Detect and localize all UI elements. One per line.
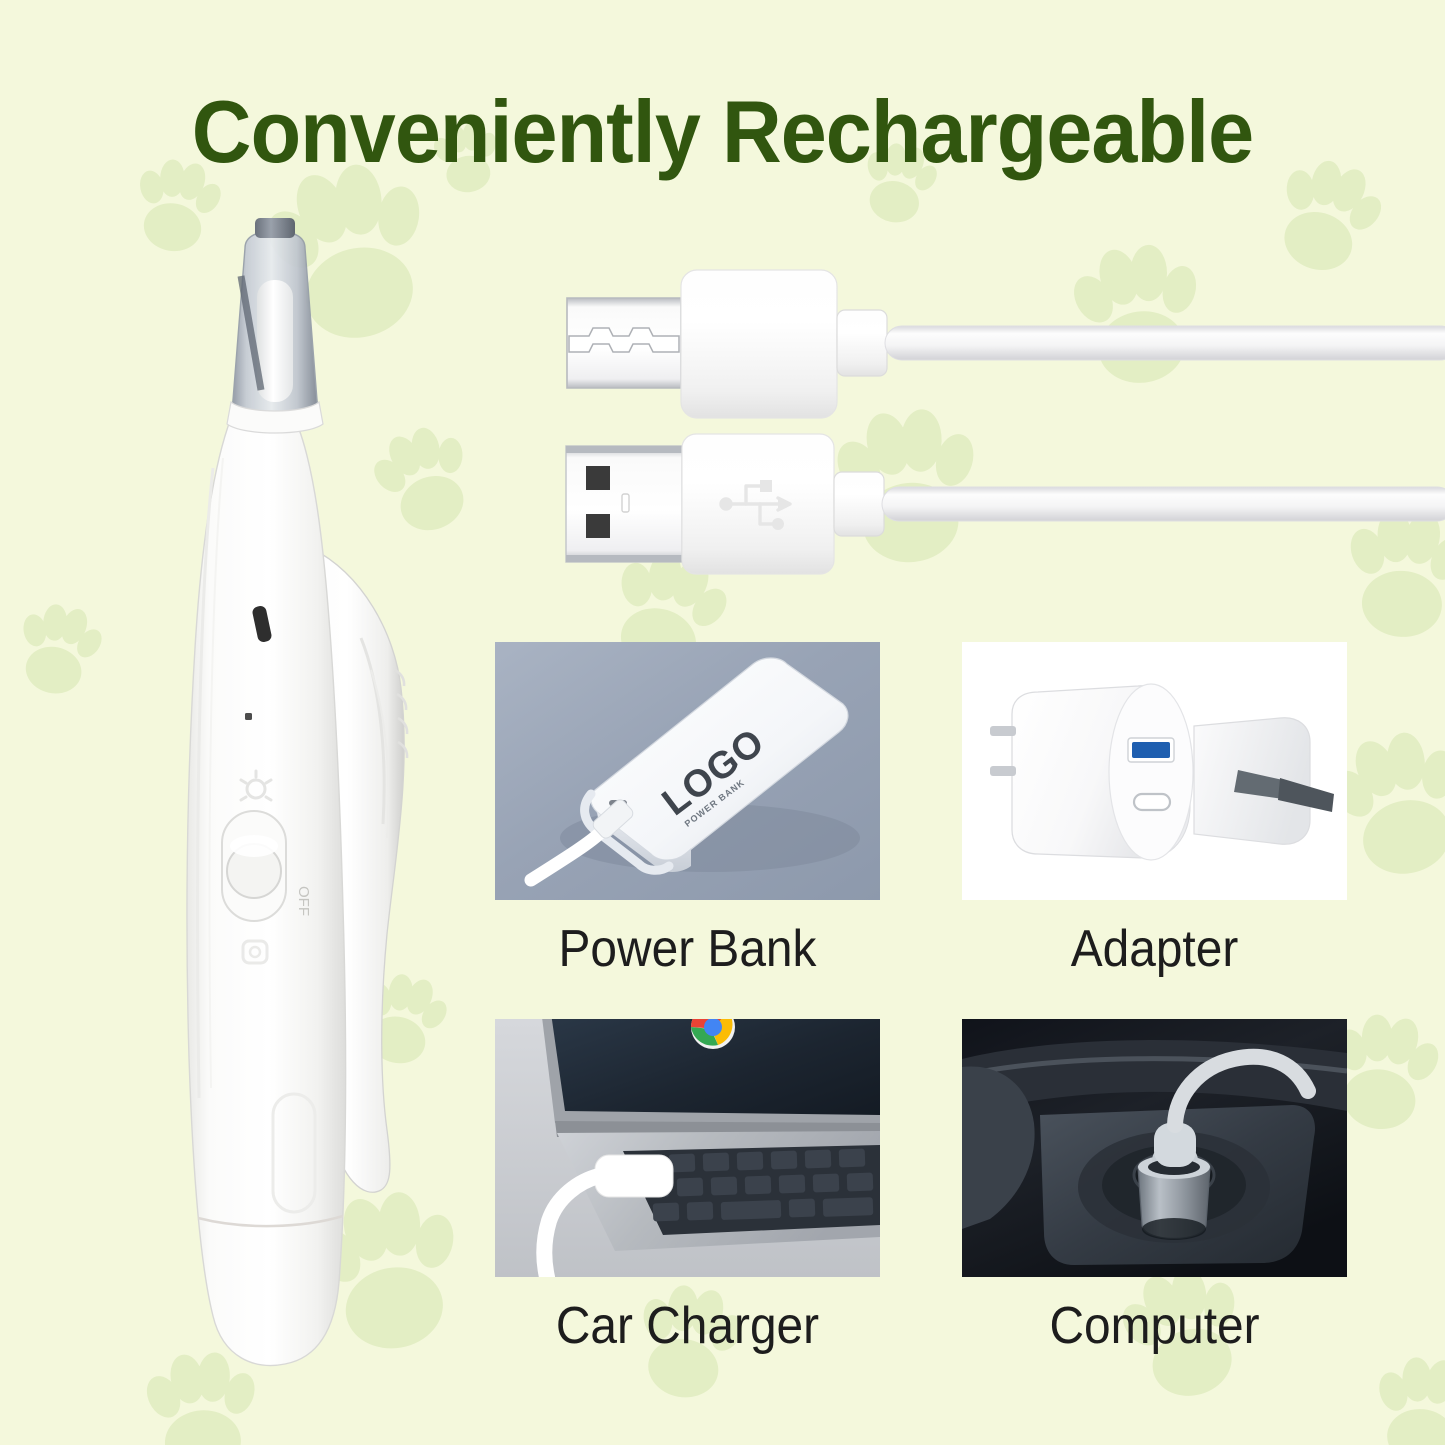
usb-a-contact-top [586, 466, 610, 490]
power-slider-switch[interactable] [222, 811, 286, 921]
micro-usb-connector [567, 270, 1445, 418]
charging-option-power-bank[interactable]: LOGO POWER BANK Power Bank [495, 642, 880, 977]
adapter-photo [962, 642, 1347, 900]
charging-option-adapter[interactable]: Adapter [962, 642, 1347, 977]
page-title: Conveniently Rechargeable [43, 88, 1401, 176]
charging-option-car-charger[interactable]: Car Charger [495, 1019, 880, 1354]
adapter-flat-prong-bottom [990, 766, 1016, 776]
charging-option-label: Car Charger [510, 1299, 864, 1354]
charging-cables-group [555, 262, 1445, 582]
micro-usb-body [681, 270, 837, 418]
adapter-usb-a-port [1132, 742, 1170, 758]
adapter-flat-prong-top [990, 726, 1016, 736]
cables-svg [555, 262, 1445, 582]
usb-a-strain-relief [834, 472, 884, 536]
grinder-cap [255, 218, 295, 238]
laptop-photo [495, 1019, 880, 1277]
car-charger-photo [962, 1019, 1347, 1277]
micro-usb-strain-relief [837, 310, 887, 376]
laptop-usb-icon [495, 1019, 880, 1277]
usb-a-connector [566, 434, 1445, 574]
nail-grinder-svg: OFF [95, 218, 455, 1378]
charging-option-label: Computer [977, 1299, 1331, 1354]
usb-a-contact-bottom [586, 514, 610, 538]
micro-usb-cable [885, 326, 1445, 360]
charging-option-label: Adapter [977, 922, 1331, 977]
charging-option-computer[interactable]: Computer [962, 1019, 1347, 1354]
power-bank-photo: LOGO POWER BANK [495, 642, 880, 900]
power-bank-icon: LOGO POWER BANK [495, 642, 880, 900]
switch-off-label: OFF [295, 886, 312, 916]
wall-adapter-icon [962, 642, 1347, 900]
product-image-nail-grinder: OFF [95, 218, 455, 1378]
charging-option-label: Power Bank [510, 922, 864, 977]
adapter-front-unit [990, 684, 1193, 860]
led-indicator-icon [245, 713, 252, 720]
adapter-usb-c-port [1134, 794, 1170, 810]
usb-a-cable [882, 487, 1445, 521]
infographic-canvas: Conveniently Rechargeable [0, 0, 1445, 1445]
car-charger-icon [962, 1019, 1347, 1277]
charging-options-grid: LOGO POWER BANK Power Bank [495, 642, 1347, 1342]
